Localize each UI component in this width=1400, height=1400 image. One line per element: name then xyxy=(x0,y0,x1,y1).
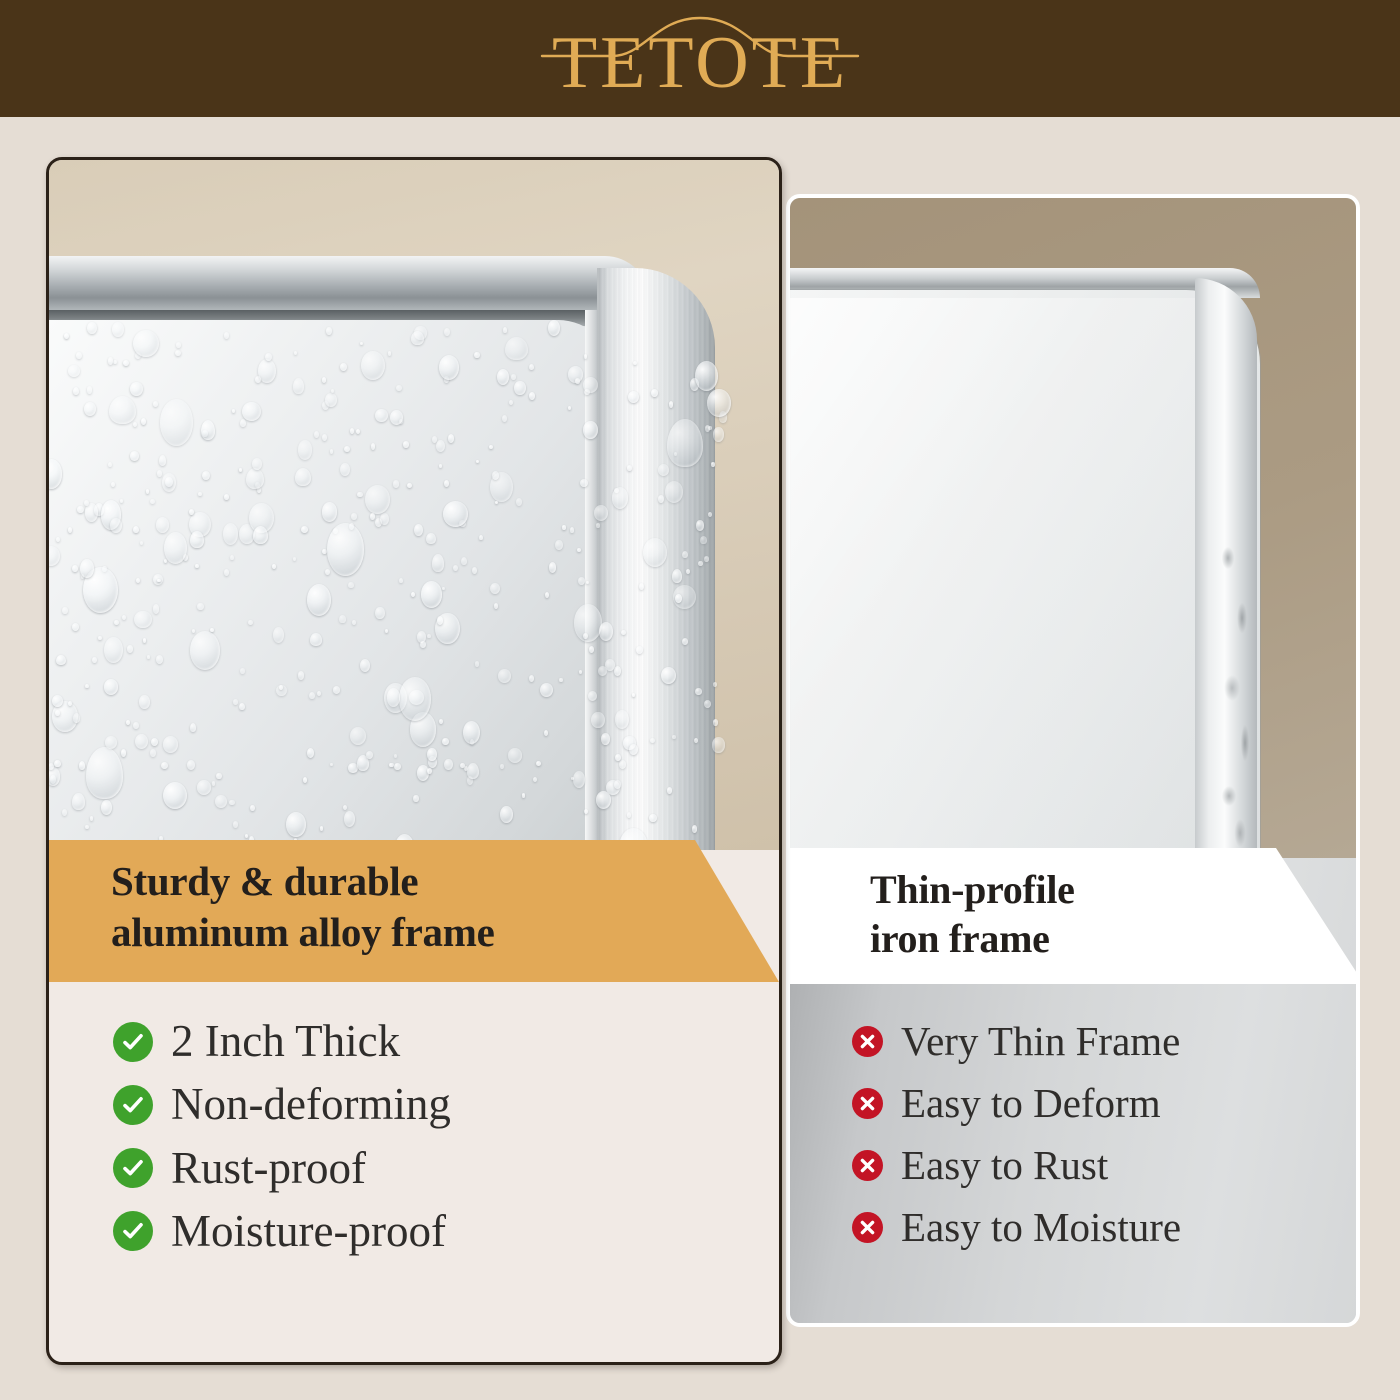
competitor-feature-list: Very Thin Frame Easy to Deform Easy to R… xyxy=(790,998,1360,1268)
brand-header: TETOTE xyxy=(0,0,1400,117)
brand-name: TETOTE xyxy=(552,26,848,100)
list-item-label: Rust-proof xyxy=(171,1145,366,1192)
list-item: Easy to Moisture xyxy=(852,1206,1360,1249)
list-item-label: Easy to Rust xyxy=(901,1144,1108,1187)
competitor-banner-label: Thin-profile iron frame xyxy=(870,866,1075,964)
check-circle-icon xyxy=(113,1148,153,1188)
list-item: Rust-proof xyxy=(113,1145,782,1192)
tetote-feature-list: 2 Inch Thick Non-deforming Rust-proof xyxy=(49,998,782,1271)
mirror-glass-surface xyxy=(49,320,614,850)
check-circle-icon xyxy=(113,1085,153,1125)
list-item-label: 2 Inch Thick xyxy=(171,1018,400,1065)
tetote-banner-label: Sturdy & durable aluminum alloy frame xyxy=(111,856,494,958)
x-circle-icon xyxy=(852,1088,883,1119)
list-item-label: Easy to Deform xyxy=(901,1082,1161,1125)
check-circle-icon xyxy=(113,1022,153,1062)
list-item: Moisture-proof xyxy=(113,1208,782,1255)
list-item: Non-deforming xyxy=(113,1081,782,1128)
list-item-label: Easy to Moisture xyxy=(901,1206,1181,1249)
infographic-canvas: TETOTE Thin-profile iron frame Very xyxy=(0,0,1400,1400)
competitor-banner: Thin-profile iron frame xyxy=(790,848,1360,984)
water-droplet xyxy=(719,411,728,423)
list-item-label: Very Thin Frame xyxy=(901,1020,1180,1063)
list-item: Easy to Deform xyxy=(852,1082,1360,1125)
x-circle-icon xyxy=(852,1026,883,1057)
x-circle-icon xyxy=(852,1150,883,1181)
tetote-product-photo xyxy=(49,160,779,850)
list-item: Easy to Rust xyxy=(852,1144,1360,1187)
list-item-label: Non-deforming xyxy=(171,1081,451,1128)
list-item: Very Thin Frame xyxy=(852,1020,1360,1063)
mirror-gloss-highlight xyxy=(790,298,1200,858)
brand-logo: TETOTE xyxy=(0,0,1400,117)
comparison-panel-competitor: Thin-profile iron frame Very Thin Frame … xyxy=(786,194,1360,1327)
comparison-panel-tetote: Sturdy & durable aluminum alloy frame 2 … xyxy=(46,157,782,1365)
check-circle-icon xyxy=(113,1211,153,1251)
list-item: 2 Inch Thick xyxy=(113,1018,782,1065)
tetote-banner: Sturdy & durable aluminum alloy frame xyxy=(49,840,782,982)
brushed-metal-texture xyxy=(597,268,715,850)
rust-texture-spots xyxy=(1220,528,1254,858)
x-circle-icon xyxy=(852,1212,883,1243)
competitor-product-photo xyxy=(790,198,1356,858)
list-item-label: Moisture-proof xyxy=(171,1208,446,1255)
